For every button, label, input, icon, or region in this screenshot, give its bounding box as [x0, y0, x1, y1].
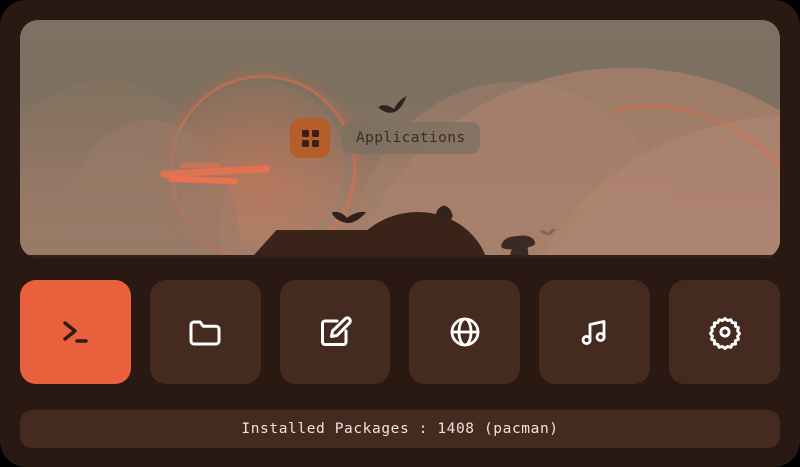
application-dock — [20, 280, 780, 384]
edit-square-icon — [313, 310, 357, 354]
folder-icon — [183, 310, 227, 354]
dock-item-browser[interactable] — [409, 280, 520, 384]
applications-launcher[interactable]: Applications — [290, 118, 480, 158]
gear-icon — [703, 310, 747, 354]
dock-item-settings[interactable] — [669, 280, 780, 384]
status-bar: Installed Packages : 1408 (pacman) — [20, 410, 780, 448]
bird-small-distant-icon — [540, 228, 556, 237]
terminal-icon — [53, 310, 97, 354]
bird-lower-left-icon — [329, 206, 368, 233]
applications-tooltip: Applications — [342, 122, 480, 155]
globe-icon — [443, 310, 487, 354]
music-note-icon — [573, 310, 617, 354]
dock-item-terminal[interactable] — [20, 280, 131, 384]
wallpaper-ground-base — [20, 255, 780, 258]
wallpaper-cloud-streak-3 — [180, 163, 220, 168]
dock-item-files[interactable] — [150, 280, 261, 384]
apps-grid-icon[interactable] — [290, 118, 330, 158]
wallpaper-panel: Applications — [20, 20, 780, 258]
installed-packages-text: Installed Packages : 1408 (pacman) — [241, 422, 558, 437]
dock-item-editor[interactable] — [280, 280, 391, 384]
dock-item-music[interactable] — [539, 280, 650, 384]
grid-glyph — [302, 130, 319, 147]
desktop-shell: Applications — [0, 0, 800, 467]
